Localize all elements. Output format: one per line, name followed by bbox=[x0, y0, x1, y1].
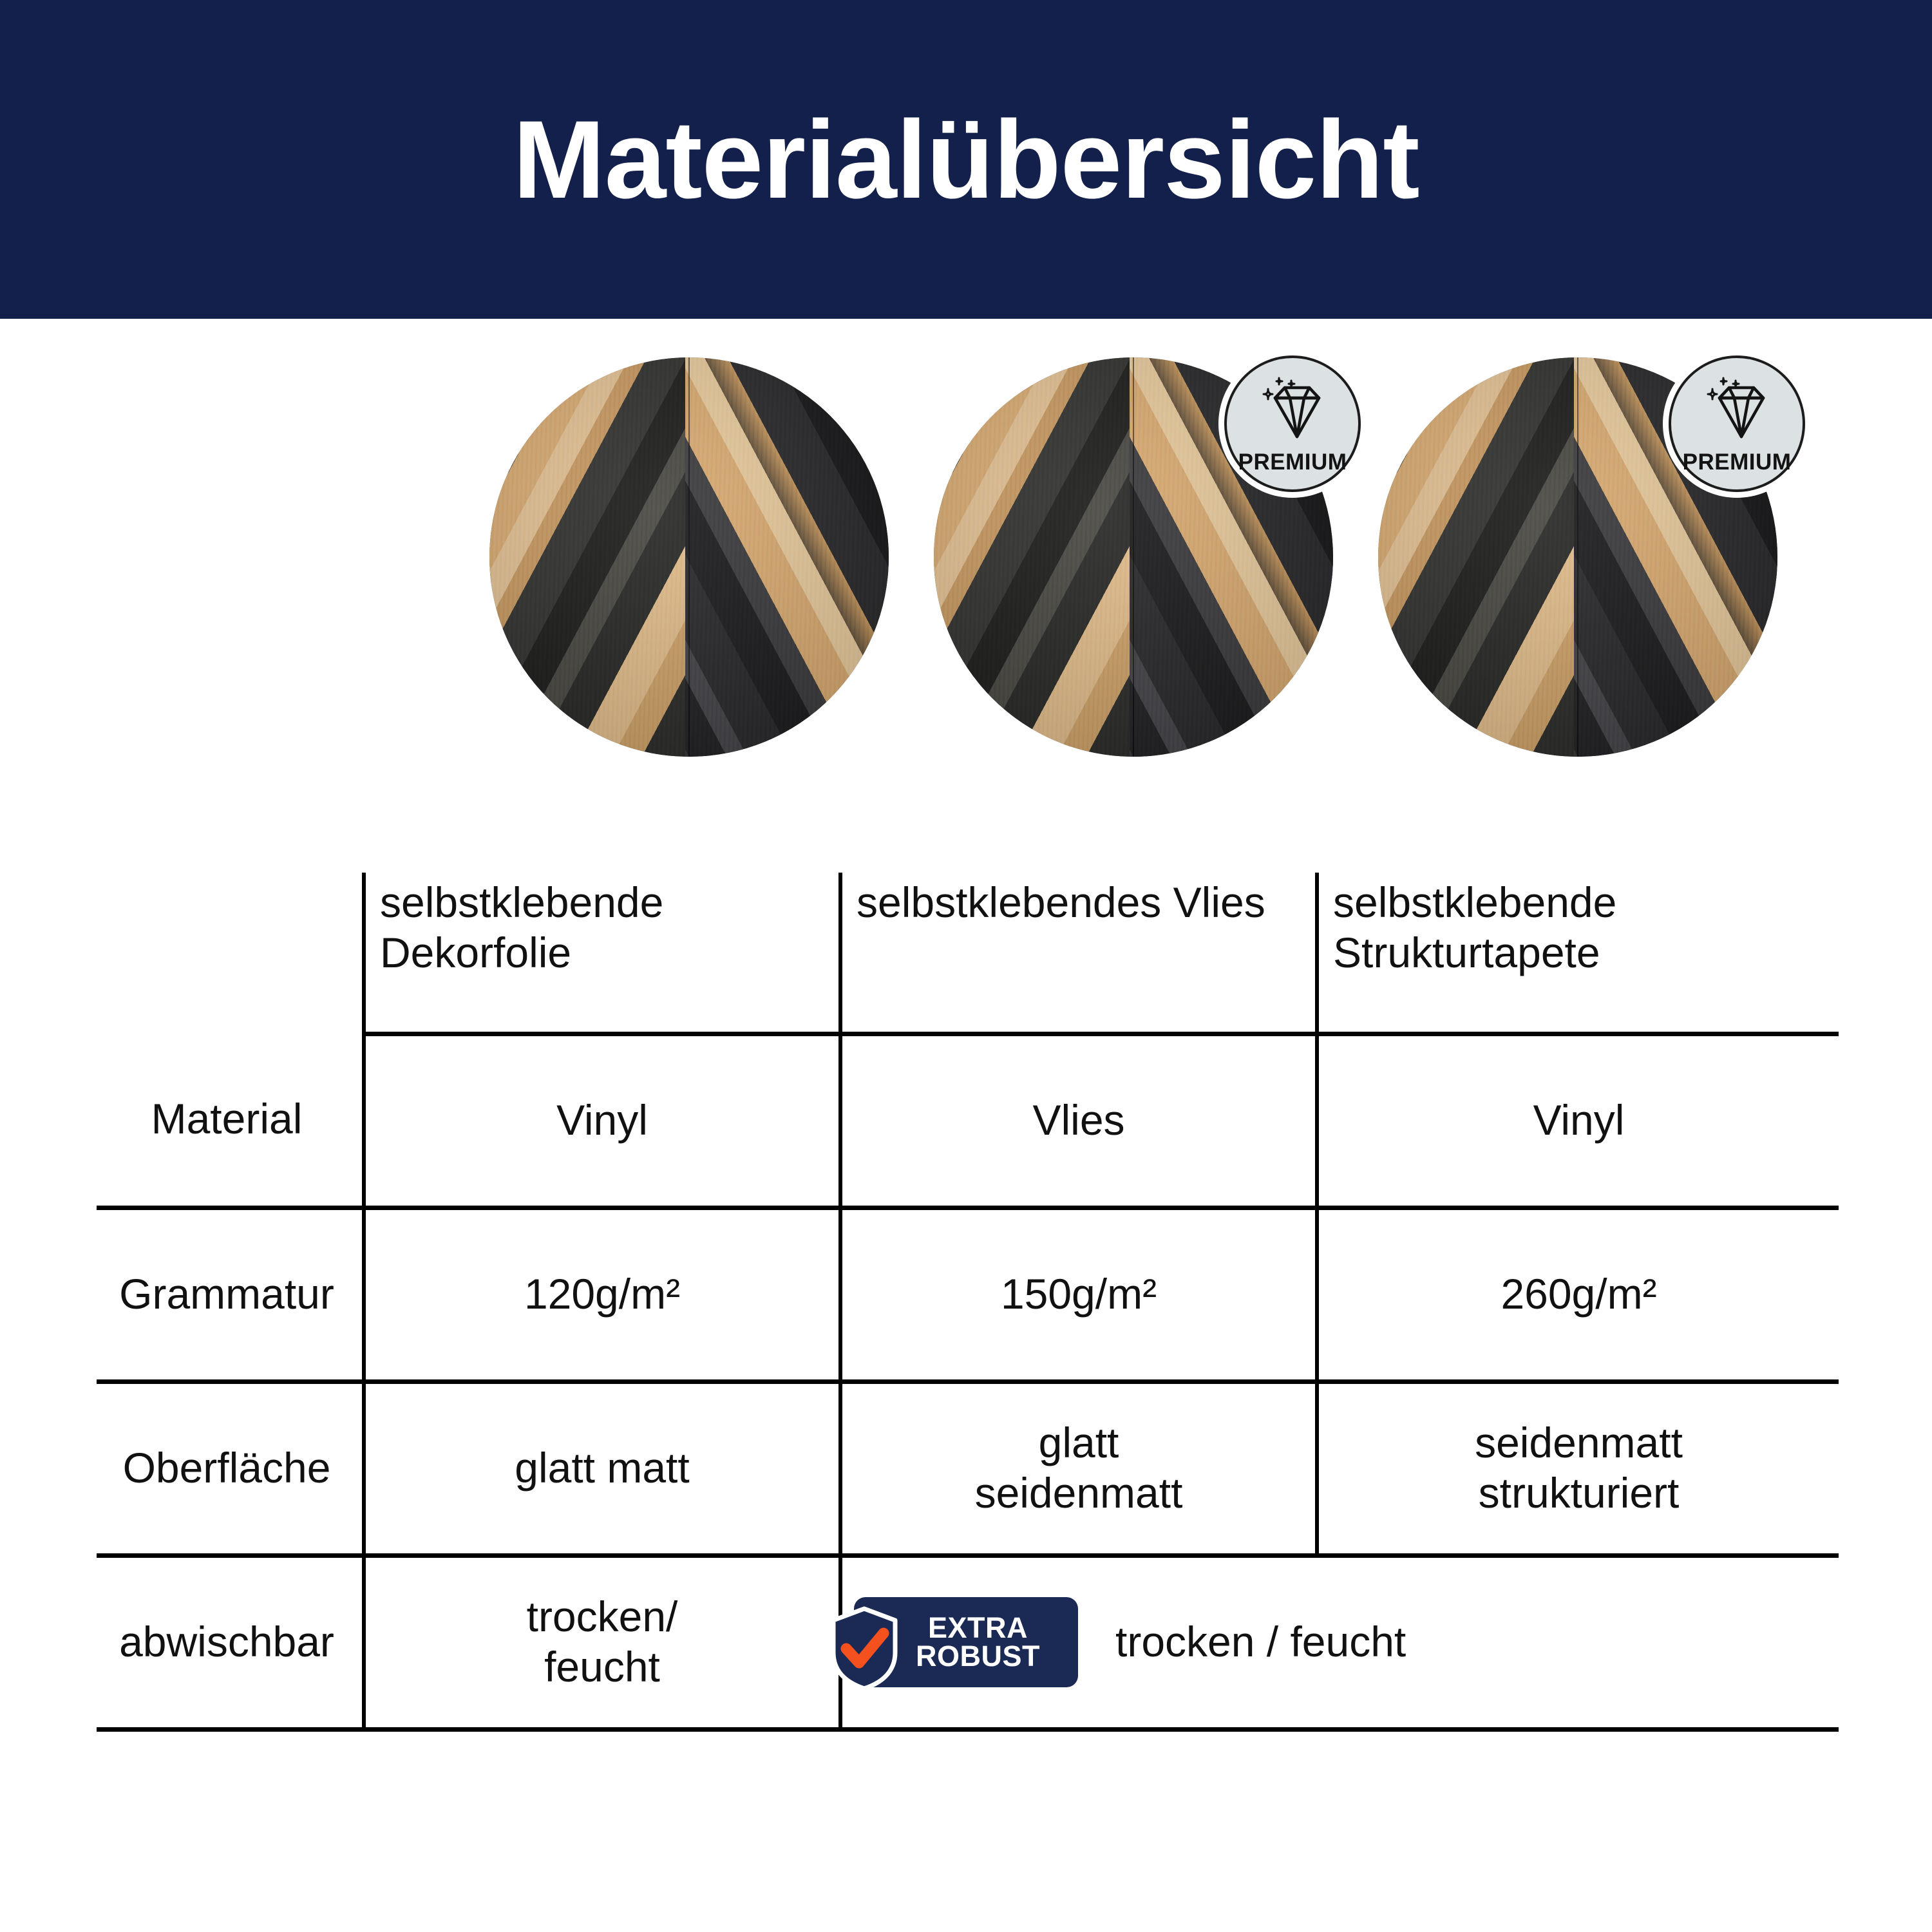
table-header-blank bbox=[97, 873, 364, 1034]
cell-grammatur-vlies: 150g/m² bbox=[840, 1207, 1317, 1381]
cell-material-strukturtapete: Vinyl bbox=[1317, 1034, 1839, 1207]
shield-check-icon bbox=[827, 1606, 902, 1691]
wood-pattern-disc bbox=[489, 357, 889, 757]
cell-grammatur-strukturtapete: 260g/m² bbox=[1317, 1207, 1839, 1381]
row-label-oberflaeche: Oberfläche bbox=[97, 1381, 364, 1555]
table-header-dekorfolie: selbstklebende Dekorfolie bbox=[364, 873, 840, 1034]
table-row: Grammatur 120g/m² 150g/m² 260g/m² bbox=[97, 1207, 1839, 1381]
table-header-vlies: selbstklebendes Vlies bbox=[840, 873, 1317, 1034]
diamond-icon bbox=[1255, 375, 1331, 447]
cell-material-vlies: Vlies bbox=[840, 1034, 1317, 1207]
chevron-seam bbox=[1133, 357, 1134, 757]
premium-badge-label: PREMIUM bbox=[1683, 451, 1792, 473]
product-swatch-strukturtapete[interactable]: PREMIUM bbox=[1378, 357, 1777, 757]
product-swatch-dekorfolie[interactable] bbox=[489, 357, 889, 757]
chevron-seam bbox=[1577, 357, 1578, 757]
page-header-banner: Materialübersicht bbox=[0, 0, 1932, 319]
row-label-grammatur: Grammatur bbox=[97, 1207, 364, 1381]
cell-grammatur-dekorfolie: 120g/m² bbox=[364, 1207, 840, 1381]
cell-abwischbar-dekorfolie: trocken/ feucht bbox=[364, 1555, 840, 1729]
table-header-strukturtapete: selbstklebende Strukturtapete bbox=[1317, 873, 1839, 1034]
product-swatch-strip: PREMIUM bbox=[0, 319, 1932, 795]
row-label-material: Material bbox=[97, 1034, 364, 1207]
cell-abwischbar-vlies-strukturtapete: EXTRA ROBUST trocken / feucht bbox=[840, 1555, 1839, 1729]
page-title: Materialübersicht bbox=[513, 104, 1419, 215]
table-row: Oberfläche glatt matt glatt seidenmatt s… bbox=[97, 1381, 1839, 1555]
product-swatch-vlies[interactable]: PREMIUM bbox=[934, 357, 1333, 757]
cell-oberflaeche-strukturtapete: seidenmatt strukturiert bbox=[1317, 1381, 1839, 1555]
table-row: abwischbar trocken/ feucht bbox=[97, 1555, 1839, 1729]
chevron-seam bbox=[688, 357, 690, 757]
cell-oberflaeche-dekorfolie: glatt matt bbox=[364, 1381, 840, 1555]
material-comparison-table: selbstklebende Dekorfolie selbstklebende… bbox=[97, 873, 1839, 1732]
premium-badge: PREMIUM bbox=[1663, 350, 1811, 498]
wood-planks-left bbox=[489, 357, 693, 757]
extra-robust-line1: EXTRA bbox=[916, 1614, 1040, 1642]
row-label-abwischbar: abwischbar bbox=[97, 1555, 364, 1729]
table-row: Material Vinyl Vlies Vinyl bbox=[97, 1034, 1839, 1207]
extra-robust-labels: EXTRA ROBUST bbox=[916, 1614, 1040, 1670]
wood-planks-left bbox=[934, 357, 1137, 757]
cell-abwischbar-text: trocken / feucht bbox=[1115, 1617, 1406, 1667]
extra-robust-line2: ROBUST bbox=[916, 1642, 1040, 1671]
wood-planks-left bbox=[1378, 357, 1582, 757]
material-comparison-table-wrapper: selbstklebende Dekorfolie selbstklebende… bbox=[97, 873, 1839, 1732]
extra-robust-badge: EXTRA ROBUST bbox=[854, 1597, 1078, 1687]
table-header-row: selbstklebende Dekorfolie selbstklebende… bbox=[97, 873, 1839, 1034]
wood-planks-right bbox=[685, 357, 889, 757]
diamond-icon bbox=[1699, 375, 1775, 447]
cell-oberflaeche-vlies: glatt seidenmatt bbox=[840, 1381, 1317, 1555]
premium-badge-label: PREMIUM bbox=[1238, 451, 1347, 473]
cell-material-dekorfolie: Vinyl bbox=[364, 1034, 840, 1207]
premium-badge: PREMIUM bbox=[1218, 350, 1367, 498]
